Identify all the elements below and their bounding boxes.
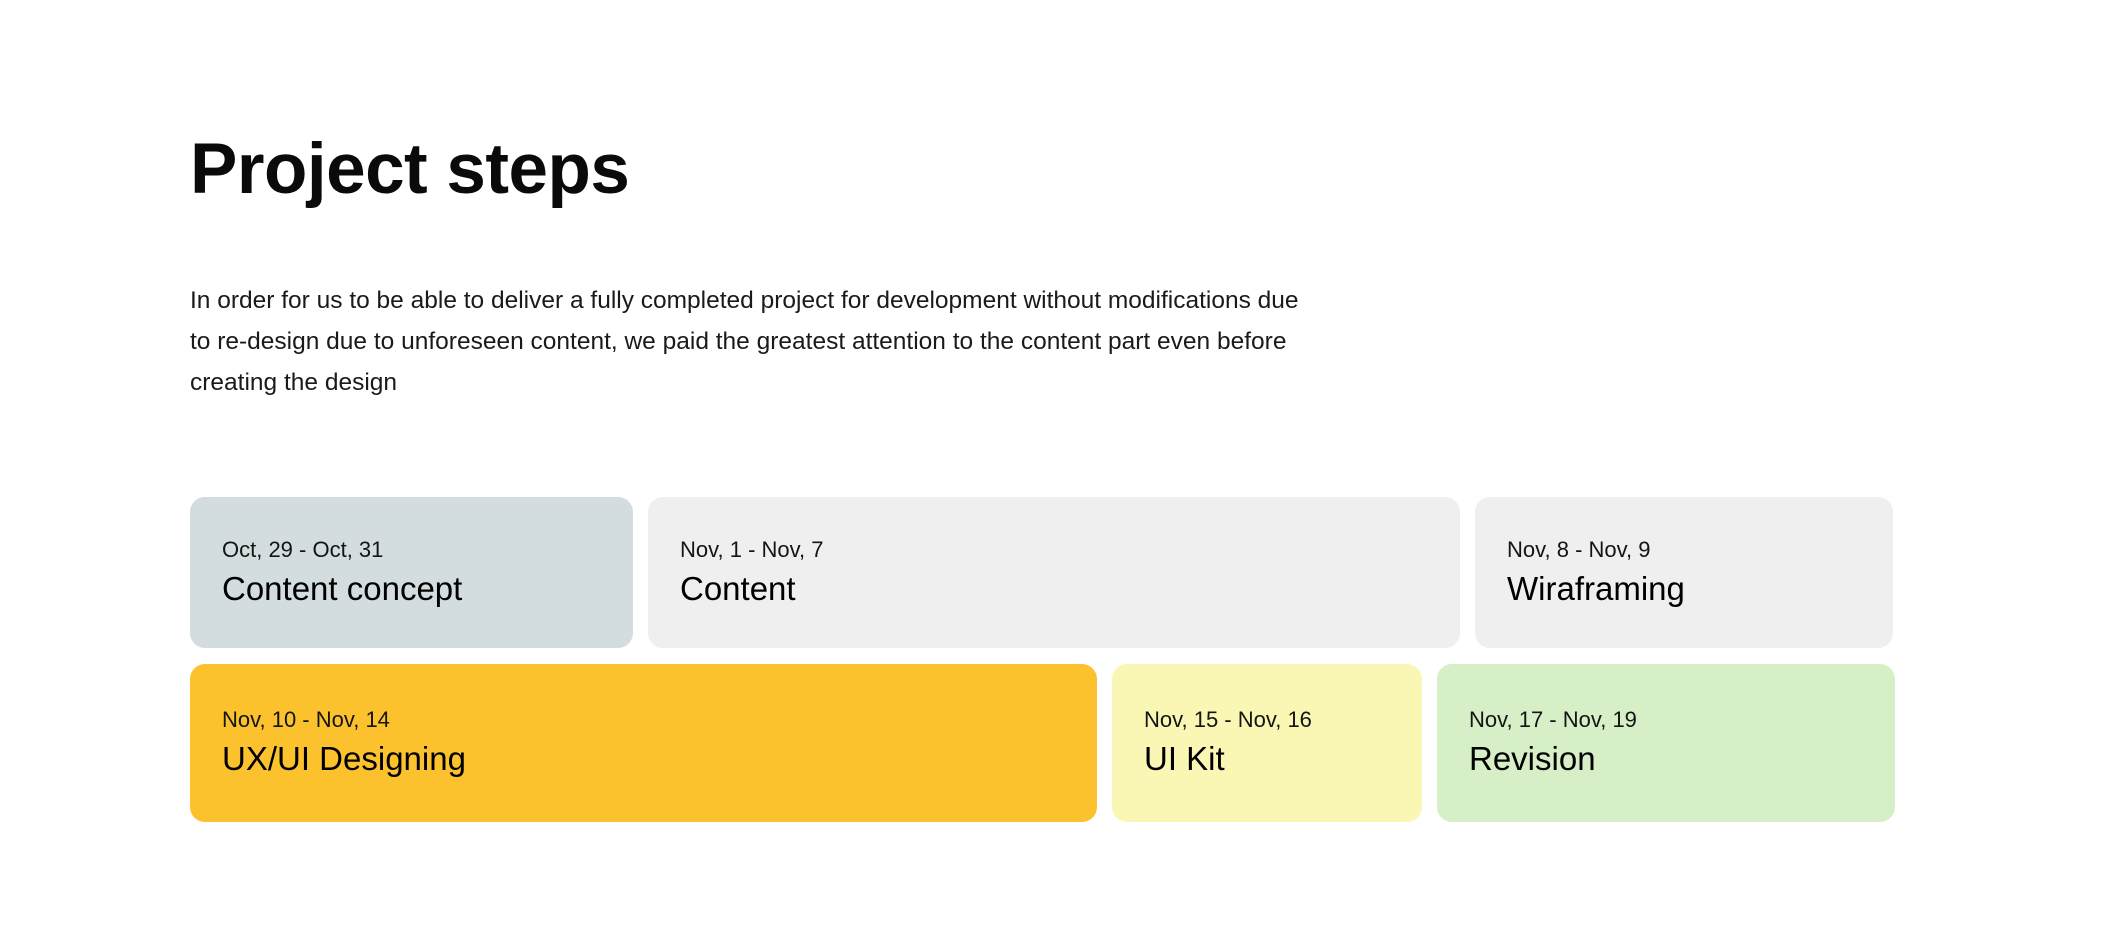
timeline-card-title: Content: [680, 569, 1460, 609]
timeline-card-content[interactable]: Nov, 1 - Nov, 7 Content: [648, 497, 1460, 648]
timeline-card-date-range: Oct, 29 - Oct, 31: [222, 537, 633, 563]
timeline-row-1: Oct, 29 - Oct, 31 Content concept Nov, 1…: [190, 497, 1895, 648]
project-steps-page: Project steps In order for us to be able…: [0, 0, 2126, 938]
timeline-card-title: UX/UI Designing: [222, 739, 1097, 779]
timeline-row-2: Nov, 10 - Nov, 14 UX/UI Designing Nov, 1…: [190, 664, 1895, 822]
page-title: Project steps: [190, 131, 629, 209]
timeline-card-revision[interactable]: Nov, 17 - Nov, 19 Revision: [1437, 664, 1895, 822]
timeline-card-ui-kit[interactable]: Nov, 15 - Nov, 16 UI Kit: [1112, 664, 1422, 822]
timeline-card-wiraframing[interactable]: Nov, 8 - Nov, 9 Wiraframing: [1475, 497, 1893, 648]
project-timeline: Oct, 29 - Oct, 31 Content concept Nov, 1…: [190, 497, 1895, 822]
timeline-card-title: Wiraframing: [1507, 569, 1893, 609]
timeline-card-content-concept[interactable]: Oct, 29 - Oct, 31 Content concept: [190, 497, 633, 648]
timeline-card-date-range: Nov, 1 - Nov, 7: [680, 537, 1460, 563]
timeline-card-title: Revision: [1469, 739, 1895, 779]
timeline-card-date-range: Nov, 15 - Nov, 16: [1144, 707, 1422, 733]
timeline-card-title: Content concept: [222, 569, 633, 609]
timeline-card-date-range: Nov, 17 - Nov, 19: [1469, 707, 1895, 733]
timeline-card-date-range: Nov, 8 - Nov, 9: [1507, 537, 1893, 563]
timeline-card-date-range: Nov, 10 - Nov, 14: [222, 707, 1097, 733]
timeline-card-uxui-designing[interactable]: Nov, 10 - Nov, 14 UX/UI Designing: [190, 664, 1097, 822]
page-description: In order for us to be able to deliver a …: [190, 280, 1320, 403]
timeline-card-title: UI Kit: [1144, 739, 1422, 779]
